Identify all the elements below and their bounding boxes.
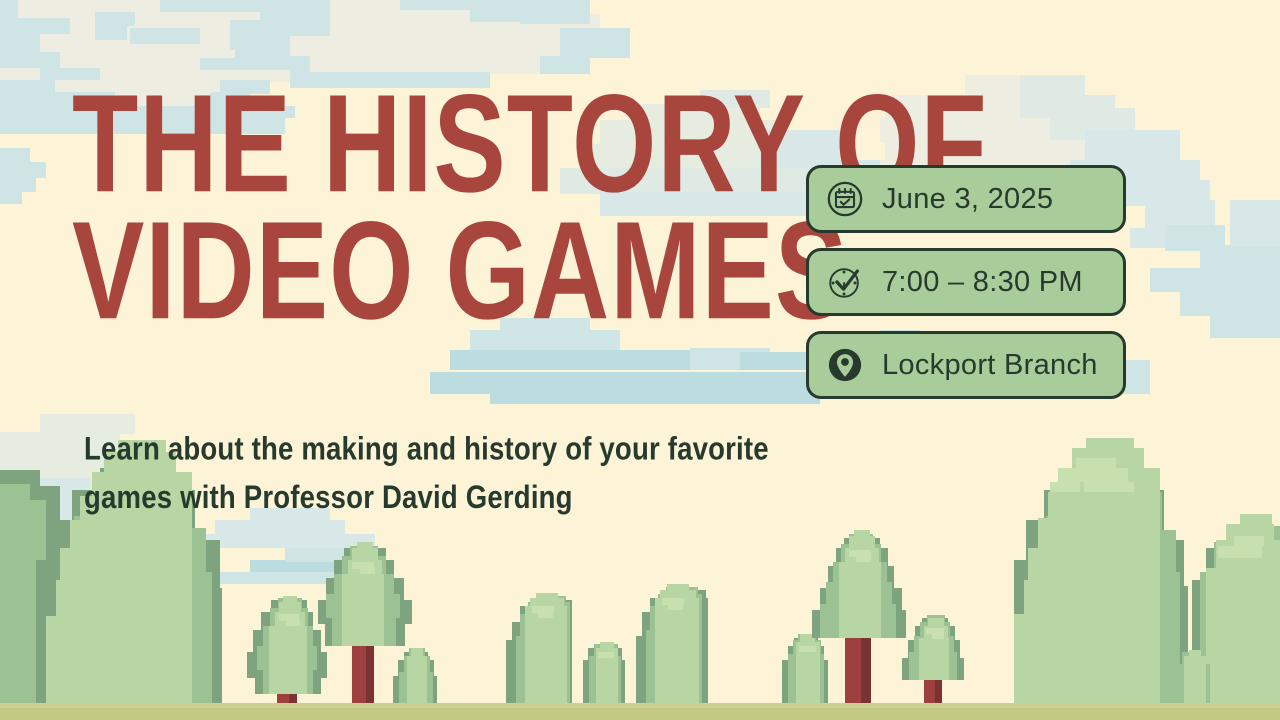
- badge-location-label: Lockport Branch: [882, 349, 1098, 382]
- event-poster: THE HISTORY OF VIDEO GAMES Learn about t…: [0, 0, 1280, 720]
- badge-date-label: June 3, 2025: [882, 183, 1053, 216]
- event-info-badges: June 3, 2025 7:00 – 8:30 PM Lockport B: [806, 165, 1126, 399]
- page-title-line-1: THE HISTORY OF: [72, 78, 744, 212]
- title-block: THE HISTORY OF VIDEO GAMES: [72, 78, 802, 319]
- badge-time[interactable]: 7:00 – 8:30 PM: [806, 248, 1126, 316]
- page-title-line-2: VIDEO GAMES: [72, 205, 744, 339]
- badge-date[interactable]: June 3, 2025: [806, 165, 1126, 233]
- clock-check-icon: [826, 263, 864, 301]
- calendar-icon: [826, 180, 864, 218]
- ground-strip: [0, 707, 1280, 720]
- badge-location[interactable]: Lockport Branch: [806, 331, 1126, 399]
- event-description: Learn about the making and history of yo…: [84, 426, 778, 521]
- bush-mid-small: [583, 642, 625, 712]
- badge-time-label: 7:00 – 8:30 PM: [882, 266, 1083, 299]
- location-pin-icon: [826, 346, 864, 384]
- ground-strip-shadow: [0, 703, 1280, 708]
